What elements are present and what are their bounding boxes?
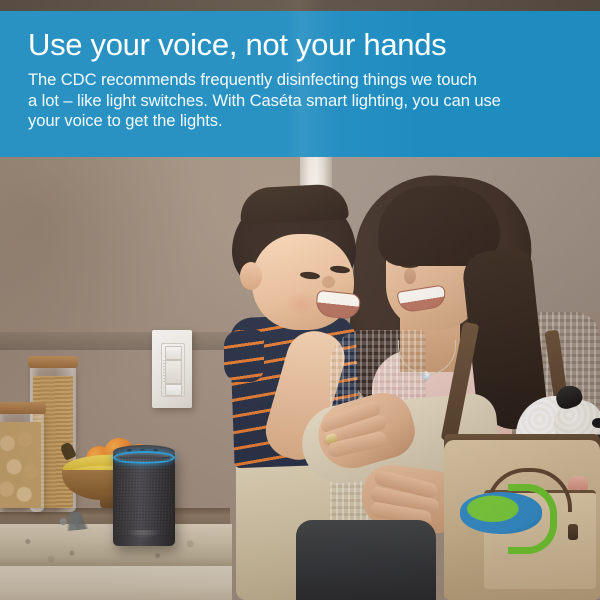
advertisement-image: Use your voice, not your hands The CDC r…	[0, 0, 600, 600]
farfalle-contents	[0, 422, 41, 508]
jar-lid	[28, 356, 78, 368]
child-cheek	[286, 292, 316, 316]
dimmer-raise-lower-bar[interactable]	[165, 360, 182, 384]
lutron-caseta-dimmer-switch[interactable]	[152, 330, 192, 408]
bag-clasp	[568, 524, 578, 540]
dimmer-body	[161, 343, 185, 397]
dimmer-off-button[interactable]	[165, 384, 182, 396]
kitchen-cabinet	[0, 566, 232, 600]
jar-lid	[0, 402, 46, 414]
sippy-cup-handle	[508, 484, 557, 554]
amazon-echo-speaker[interactable]	[113, 450, 175, 546]
glass-jar-farfalle	[0, 412, 44, 512]
body-line: a lot – like light switches. With Caséta…	[28, 91, 573, 112]
dimmer-on-button[interactable]	[165, 346, 182, 360]
stuffed-dog-nose	[592, 418, 600, 428]
woman-pants	[296, 520, 436, 600]
child-sleeve	[224, 330, 264, 382]
promo-banner: Use your voice, not your hands The CDC r…	[0, 11, 600, 157]
child-nose	[322, 276, 335, 288]
child-ear	[240, 262, 262, 290]
echo-light-ring	[113, 451, 175, 464]
body-line: The CDC recommends frequently disinfecti…	[28, 70, 573, 91]
woman-nose	[404, 268, 416, 284]
dimmer-led-indicator	[163, 360, 166, 382]
echo-logo	[127, 530, 161, 538]
bag-item-pink	[568, 476, 588, 490]
banner-headline: Use your voice, not your hands	[28, 29, 446, 60]
body-line: your voice to get the lights.	[28, 111, 573, 132]
banner-body-copy: The CDC recommends frequently disinfecti…	[28, 70, 573, 132]
